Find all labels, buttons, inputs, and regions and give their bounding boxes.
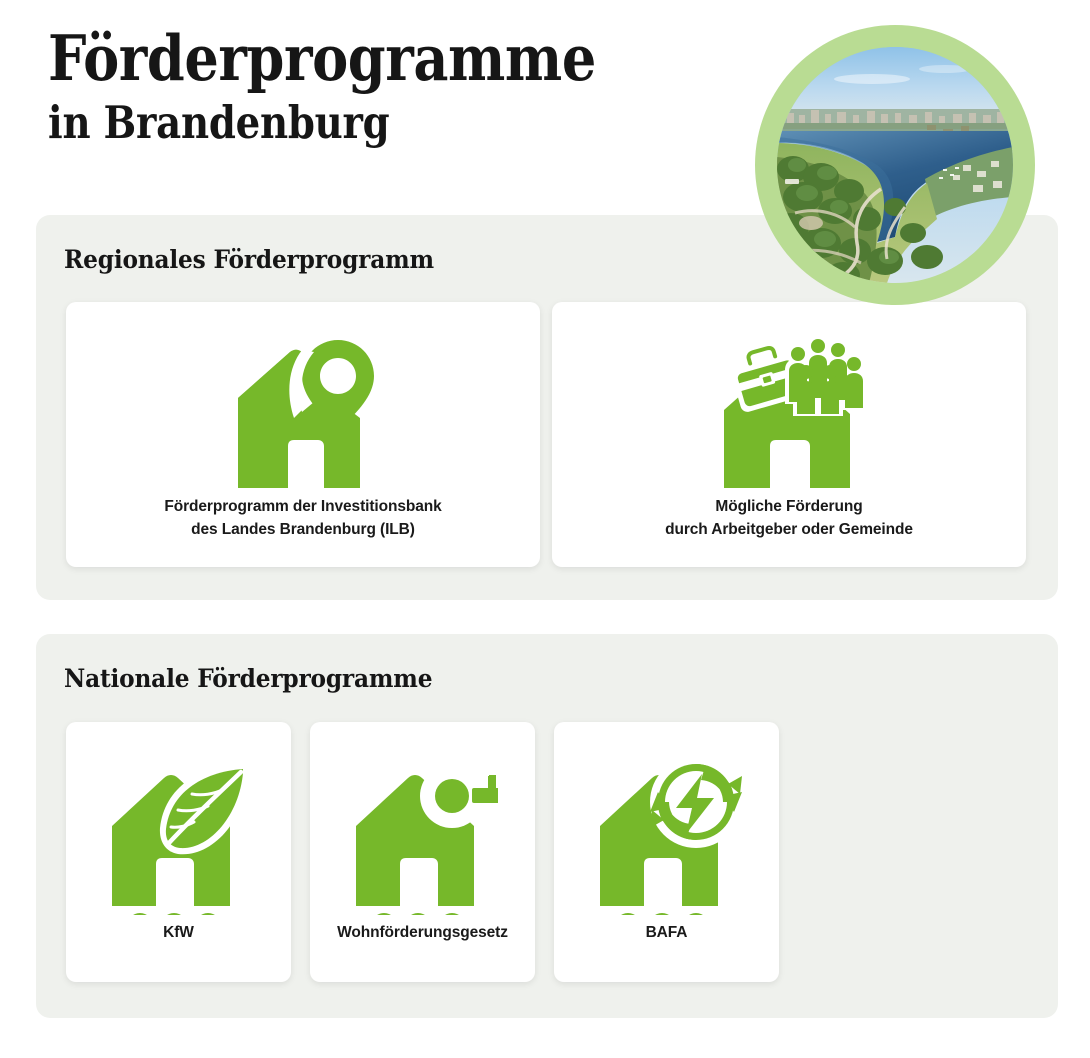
house-briefcase-people-icon xyxy=(714,330,864,490)
section-regional-title: Regionales Förderprogramm xyxy=(64,245,434,274)
house-location-pin-icon xyxy=(228,330,378,490)
card-wohn[interactable]: Wohnförderungsgesetz xyxy=(310,722,535,982)
card-wohn-label: Wohnförderungsgesetz xyxy=(337,922,508,945)
hero-photo-circle xyxy=(755,25,1035,305)
page-header: Förderprogramme in Brandenburg xyxy=(48,26,748,148)
house-leaf-icon xyxy=(104,748,254,916)
card-employer[interactable]: Mögliche Förderung durch Arbeitgeber ode… xyxy=(552,302,1026,567)
card-bafa[interactable]: BAFA xyxy=(554,722,779,982)
card-bafa-label: BAFA xyxy=(646,922,688,945)
card-kfw-label: KfW xyxy=(163,922,194,945)
card-ilb[interactable]: Förderprogramm der Investitionsbank des … xyxy=(66,302,540,567)
aerial-view-lake-brandenburg-image xyxy=(777,47,1013,283)
house-key-icon xyxy=(348,748,498,916)
card-ilb-label: Förderprogramm der Investitionsbank des … xyxy=(164,496,441,542)
page-subtitle: in Brandenburg xyxy=(48,98,650,148)
house-energy-bolt-icon xyxy=(592,748,742,916)
card-employer-label: Mögliche Förderung durch Arbeitgeber ode… xyxy=(665,496,913,542)
card-kfw[interactable]: KfW xyxy=(66,722,291,982)
section-national-title: Nationale Förderprogramme xyxy=(64,664,432,693)
page-title: Förderprogramme xyxy=(48,26,650,92)
